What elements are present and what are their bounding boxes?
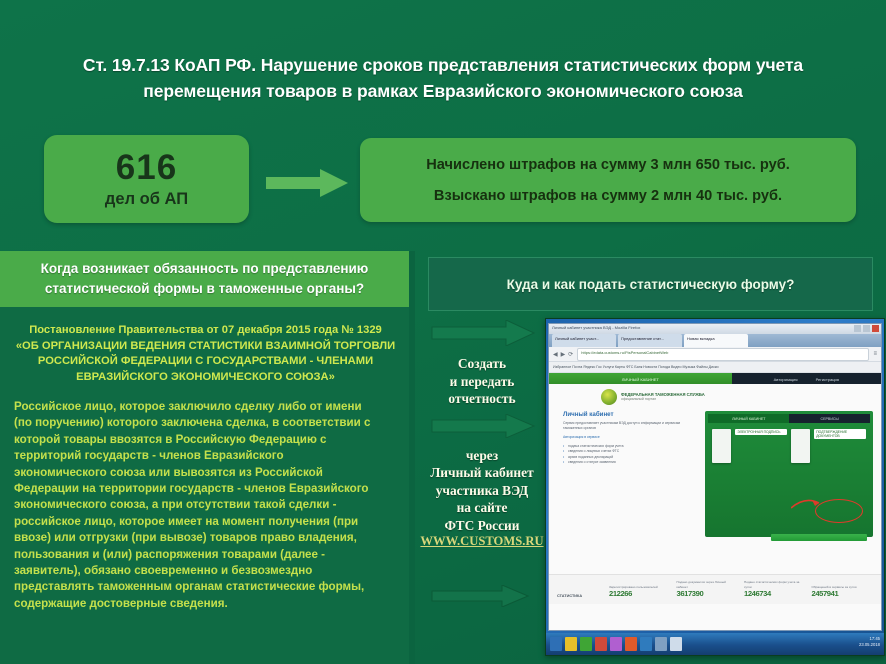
statistic-item: Зарегистрировано пользователей 212266 [609, 585, 671, 598]
legal-line: пользования и (или) распоряжения товарам… [14, 547, 397, 563]
channel-line: Личный кабинет [420, 464, 544, 482]
chip-label: ЭЛЕКТРОННАЯ ПОДПИСЬ [735, 429, 787, 435]
title-line-2: перемещения товаров в рамках Евразийског… [24, 78, 862, 104]
explorer-icon[interactable] [565, 637, 577, 651]
legal-line: (по поручению) которого заключена сделка… [14, 415, 397, 431]
logo-text: ФЕДЕРАЛЬНАЯ ТАМОЖЕННАЯ СЛУЖБА официальны… [621, 392, 705, 403]
left-panel-heading: Когда возникает обязанность по представл… [0, 251, 409, 307]
firefox-icon[interactable] [625, 637, 637, 651]
auth-link[interactable]: Авторизация [774, 377, 798, 382]
customs-website-link[interactable]: WWW.CUSTOMS.RU [420, 534, 544, 549]
decree-block: Постановление Правительства от 07 декабр… [14, 323, 397, 385]
statistic-value: 1246734 [744, 589, 806, 598]
legal-body-block: Российское лицо, которое заключило сделк… [14, 399, 397, 612]
fts-logo: ФЕДЕРАЛЬНАЯ ТАМОЖЕННАЯ СЛУЖБА официальны… [549, 384, 881, 409]
decree-line: Постановление Правительства от 07 декабр… [14, 323, 397, 339]
statistic-caption: Подано документов через Личный кабинет [677, 580, 739, 589]
browser-toolbar: ◀ ▶ ⟳ https://edata.customs.ru/FtsPerson… [549, 347, 881, 362]
left-heading-line-2: статистической формы в таможенные органы… [45, 279, 364, 299]
content-link[interactable]: Авторизация в сервисе [563, 435, 699, 440]
legal-line: экономического союза, а при отсутствии т… [14, 497, 397, 513]
content-paragraph: Сервис предоставляет участникам ВЭД дост… [563, 421, 699, 431]
statistic-caption: Подано статистических форм учета за сутк… [744, 580, 806, 589]
browser-tabstrip[interactable]: Личный кабинет участ... Предоставление с… [549, 334, 881, 347]
start-icon[interactable] [550, 637, 562, 651]
forward-arrow-icon[interactable]: ▶ [561, 351, 566, 358]
panel-divider [409, 251, 415, 664]
page-content: ФЕДЕРАЛЬНАЯ ТАМОЖЕННАЯ СЛУЖБА официальны… [549, 384, 881, 630]
right-arrow-icon [266, 169, 348, 197]
cases-count-card: 616 дел об АП [44, 135, 249, 223]
promo-tabs[interactable]: ЛИЧНЫЙ КАБИНЕТ СЕРВИСЫ [708, 414, 870, 423]
minimize-icon[interactable] [854, 325, 861, 332]
channel-line: ФТС России [420, 517, 544, 535]
fines-summary-card: Начислено штрафов на сумму 3 млн 650 тыс… [360, 138, 856, 222]
statistic-value: 2457941 [812, 589, 874, 598]
emblem-icon [601, 389, 617, 405]
system-tray[interactable]: 17:45 23.05.2018 [859, 636, 880, 648]
decree-line: «ОБ ОРГАНИЗАЦИИ ВЕДЕНИЯ СТАТИСТИКИ ВЗАИМ… [14, 339, 397, 355]
chip-label: ПОДТВЕРЖДЕНИЕ ДОКУМЕНТОВ [814, 429, 866, 439]
statistic-value: 212266 [609, 589, 671, 598]
channel-line: участника ВЭД [420, 482, 544, 500]
promo-cards: ЭЛЕКТРОННАЯ ПОДПИСЬ ПОДТВЕРЖДЕНИЕ ДОКУМЕ… [708, 423, 870, 469]
legal-line: Российское лицо, которое заключило сделк… [14, 399, 397, 415]
right-arrow-icon [420, 320, 544, 351]
statistic-item: Подано документов через Личный кабинет 3… [677, 580, 739, 598]
left-heading-line-1: Когда возникает обязанность по представл… [41, 259, 369, 279]
back-arrow-icon[interactable]: ◀ [553, 351, 558, 358]
decree-line: ЕВРАЗИЙСКОГО ЭКОНОМИЧЕСКОГО СОЮЗА» [14, 370, 397, 386]
windows-taskbar[interactable]: 17:45 23.05.2018 [546, 633, 884, 655]
slide-canvas: Ст. 19.7.13 КоАП РФ. Нарушение сроков пр… [0, 0, 886, 664]
promo-tab-active[interactable]: ЛИЧНЫЙ КАБИНЕТ [708, 414, 789, 423]
action-line: и передать [420, 373, 544, 391]
statistics-label: СТАТИСТИКА [557, 594, 603, 598]
browser-screenshot: Личный кабинет участника ВЭД - Mozilla F… [545, 318, 885, 656]
center-flow-column: Создать и передать отчетность через Личн… [420, 320, 544, 620]
app-icon[interactable] [610, 637, 622, 651]
legal-line: экономического союза или вывозятся из Ро… [14, 465, 397, 481]
app-icon[interactable] [580, 637, 592, 651]
bookmarks-bar[interactable]: Избранное Почта Яндекс Гос Услуги Карты … [549, 362, 881, 373]
promo-chip-1: ЭЛЕКТРОННАЯ ПОДПИСЬ [735, 429, 787, 463]
close-icon[interactable] [872, 325, 879, 332]
browser-tab-active[interactable]: Новая вкладка [684, 334, 748, 347]
navigation-icons[interactable]: ◀ ▶ ⟳ [553, 351, 573, 358]
word-icon[interactable] [640, 637, 652, 651]
promo-chip-2: ПОДТВЕРЖДЕНИЕ ДОКУМЕНТОВ [814, 429, 866, 463]
browser-tab[interactable]: Личный кабинет участ... [552, 334, 616, 347]
browser-window-title: Личный кабинет участника ВЭД - Mozilla F… [552, 325, 640, 330]
browser-tab[interactable]: Предоставление стат... [618, 334, 682, 347]
right-panel-heading: Куда и как подать статистическую форму? [428, 257, 873, 311]
statistic-value: 3617390 [677, 589, 739, 598]
right-arrow-icon [430, 585, 530, 612]
action-line: отчетность [420, 390, 544, 408]
left-panel-body: Постановление Правительства от 07 декабр… [0, 307, 409, 664]
site-statistics-bar: СТАТИСТИКА Зарегистрировано пользователе… [549, 574, 881, 604]
legal-line: которой товары ввозятся в Российскую Фед… [14, 432, 397, 448]
fines-collected-text: Взыскано штрафов на сумму 2 млн 40 тыс. … [434, 187, 782, 205]
fines-assessed-text: Начислено штрафов на сумму 3 млн 650 тыс… [426, 156, 790, 174]
browser-titlebar: Личный кабинет участника ВЭД - Mozilla F… [549, 324, 881, 334]
promo-tab[interactable]: СЕРВИСЫ [789, 414, 870, 423]
cases-count-value: 616 [116, 149, 177, 187]
tray-time: 17:45 [870, 636, 880, 641]
statistic-item: Подано статистических форм учета за сутк… [744, 580, 806, 598]
legal-line: заявитель), обязано своевременно и безво… [14, 563, 397, 579]
action-text: Создать и передать отчетность [420, 355, 544, 408]
page-main: Личный кабинет Сервис предоставляет учас… [549, 409, 881, 537]
title-line-1: Ст. 19.7.13 КоАП РФ. Нарушение сроков пр… [24, 52, 862, 78]
logo-title: ФЕДЕРАЛЬНАЯ [621, 392, 654, 397]
stats-row: 616 дел об АП Начислено штрафов на сумму… [0, 135, 886, 231]
page-left-column: Личный кабинет Сервис предоставляет учас… [563, 411, 699, 537]
decree-line: РОССИЙСКОЙ ФЕДЕРАЦИИ С ГОСУДАРСТВАМИ - Ч… [14, 354, 397, 370]
app-icon[interactable] [670, 637, 682, 651]
card-graphic [791, 429, 810, 463]
app-icon[interactable] [655, 637, 667, 651]
action-line: Создать [420, 355, 544, 373]
legal-line: содержащие достоверные сведения. [14, 596, 397, 612]
right-arrow-icon [420, 414, 544, 443]
legal-line: территорий государств - членов Евразийск… [14, 448, 397, 464]
legal-line: российское лицо, которое имеет на момент… [14, 514, 397, 530]
red-ellipse-annotation-icon [815, 499, 863, 523]
statistic-item: Обращений в сервисы за сутки 2457941 [812, 585, 874, 598]
register-link[interactable]: Регистрация [816, 377, 839, 382]
card-graphic [712, 429, 731, 463]
channel-line: через [420, 447, 544, 465]
channel-line: на сайте [420, 499, 544, 517]
legal-line: представлять таможенным органам статисти… [14, 579, 397, 595]
address-bar[interactable]: https://edata.customs.ru/FtsPersonalCabi… [577, 348, 869, 361]
maximize-icon[interactable] [863, 325, 870, 332]
page-promo-panel: ЛИЧНЫЙ КАБИНЕТ СЕРВИСЫ ЭЛЕКТРОННАЯ ПОДПИ… [705, 411, 873, 537]
window-controls[interactable] [854, 325, 879, 332]
pdf-icon[interactable] [595, 637, 607, 651]
legal-line: ввозе) или отгрузки (при вывозе) товаров… [14, 530, 397, 546]
content-heading: Личный кабинет [563, 411, 699, 418]
reload-icon[interactable]: ⟳ [568, 351, 573, 358]
legal-line: Федерации на территории государств - чле… [14, 481, 397, 497]
tray-date: 23.05.2018 [859, 642, 880, 647]
page-title: Ст. 19.7.13 КоАП РФ. Нарушение сроков пр… [24, 52, 862, 104]
list-item: сведения о статусе заявления [563, 460, 699, 465]
browser-window: Личный кабинет участника ВЭД - Mozilla F… [548, 323, 882, 631]
right-heading-text: Куда и как подать статистическую форму? [507, 277, 795, 292]
logo-small: официальный портал [621, 397, 705, 402]
channel-text: через Личный кабинет участника ВЭД на са… [420, 447, 544, 535]
logo-subtitle: ТАМОЖЕННАЯ СЛУЖБА [655, 392, 705, 397]
menu-icon[interactable]: ≡ [873, 351, 877, 357]
cases-count-label: дел об АП [105, 188, 188, 210]
promo-cta-button[interactable] [771, 534, 867, 541]
